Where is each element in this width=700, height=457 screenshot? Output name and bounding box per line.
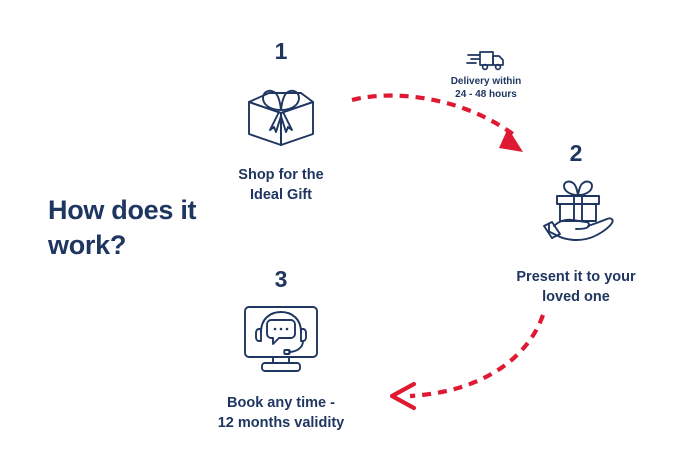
step-1: 1 Shop for the Ideal Gift [205,40,357,205]
step-2-number: 2 [500,142,652,165]
step-1-label: Shop for the Ideal Gift [205,165,357,205]
step-1-number: 1 [205,40,357,63]
how-it-works-infographic: How does it work? 1 Shop for the Ideal G… [0,0,700,457]
gift-box-icon [205,69,357,153]
hand-holding-gift-icon [500,171,652,255]
step-2-label: Present it to your loved one [500,267,652,307]
arrow-step2-to-step3 [392,315,543,408]
delivery-note-text: Delivery within 24 - 48 hours [430,75,542,101]
monitor-support-chat-icon [205,297,357,381]
step-2: 2 Present it to your loved o [500,142,652,307]
step-3-label: Book any time - 12 months validity [205,393,357,433]
step-3-number: 3 [205,268,357,291]
delivery-note: Delivery within 24 - 48 hours [430,48,542,101]
delivery-truck-icon [430,48,542,72]
step-3: 3 [205,268,357,433]
arrow-step1-to-step2 [352,96,523,152]
